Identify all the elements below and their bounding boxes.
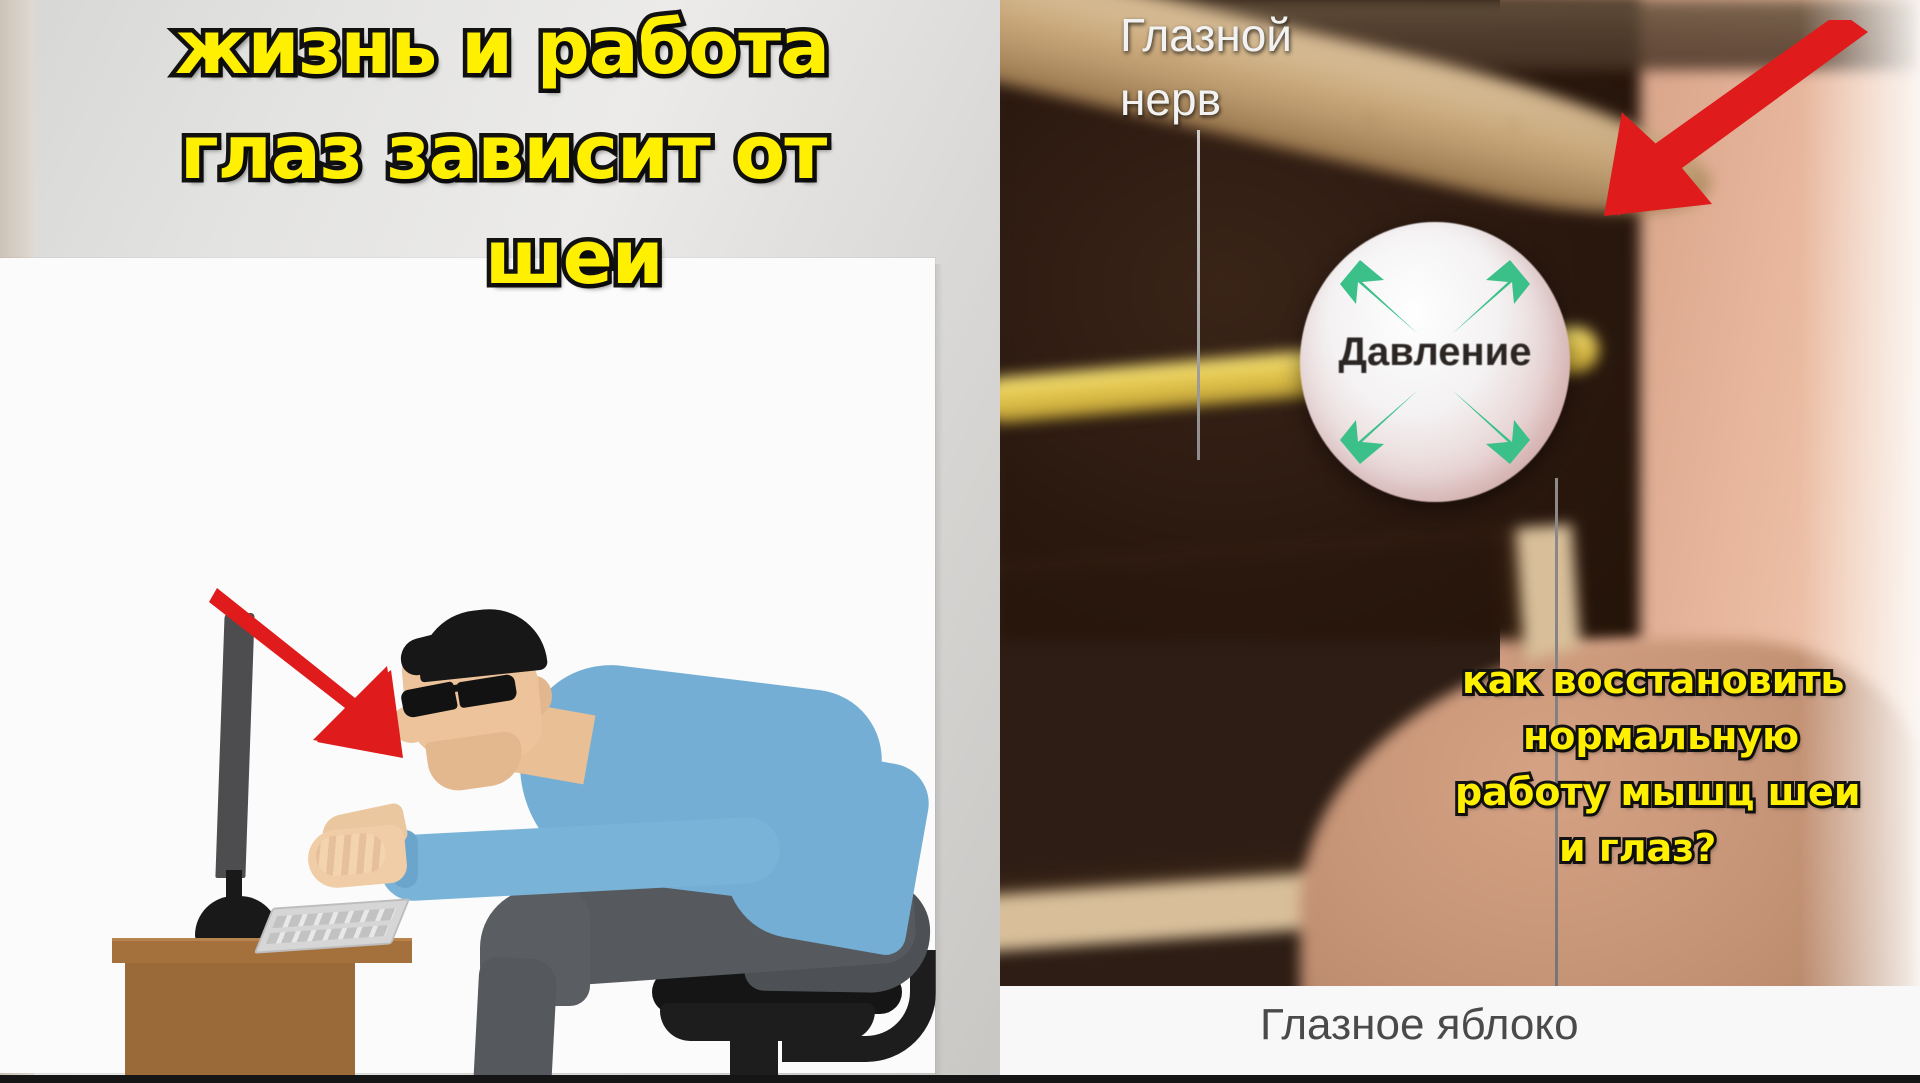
question-line-2: нормальную bbox=[1523, 714, 1799, 758]
bottom-dark-bar bbox=[0, 1075, 1920, 1083]
meme-image: жизнь и работа глаз зависит от шеи Давле… bbox=[0, 0, 1920, 1083]
headline-line-2: глаз зависит от bbox=[180, 110, 826, 196]
person-hand bbox=[306, 824, 409, 890]
desk-front-panel bbox=[125, 958, 355, 1083]
headline-line-3: шеи bbox=[485, 215, 663, 301]
optic-nerve-label-line1: Глазной bbox=[1120, 8, 1292, 62]
headline-line-1: жизнь и работа bbox=[175, 5, 829, 91]
pressure-label: Давление bbox=[1300, 330, 1570, 375]
illustration-card bbox=[0, 258, 935, 1073]
optic-nerve-label-line2: нерв bbox=[1120, 72, 1221, 126]
person-shin bbox=[464, 956, 558, 1083]
nerve-pointer-line bbox=[1197, 130, 1200, 460]
question-line-1: как восстановить bbox=[1462, 658, 1844, 702]
desk-posture-illustration bbox=[40, 558, 900, 1083]
red-arrow-icon bbox=[1560, 20, 1890, 280]
eyeball-label: Глазное яблоко bbox=[1260, 1000, 1579, 1050]
red-arrow-icon bbox=[205, 580, 435, 780]
left-panel: жизнь и работа глаз зависит от шеи bbox=[0, 0, 1000, 1083]
question-line-3: работу мышц шеи bbox=[1455, 770, 1860, 814]
question-line-4: и глаз? bbox=[1559, 826, 1716, 870]
